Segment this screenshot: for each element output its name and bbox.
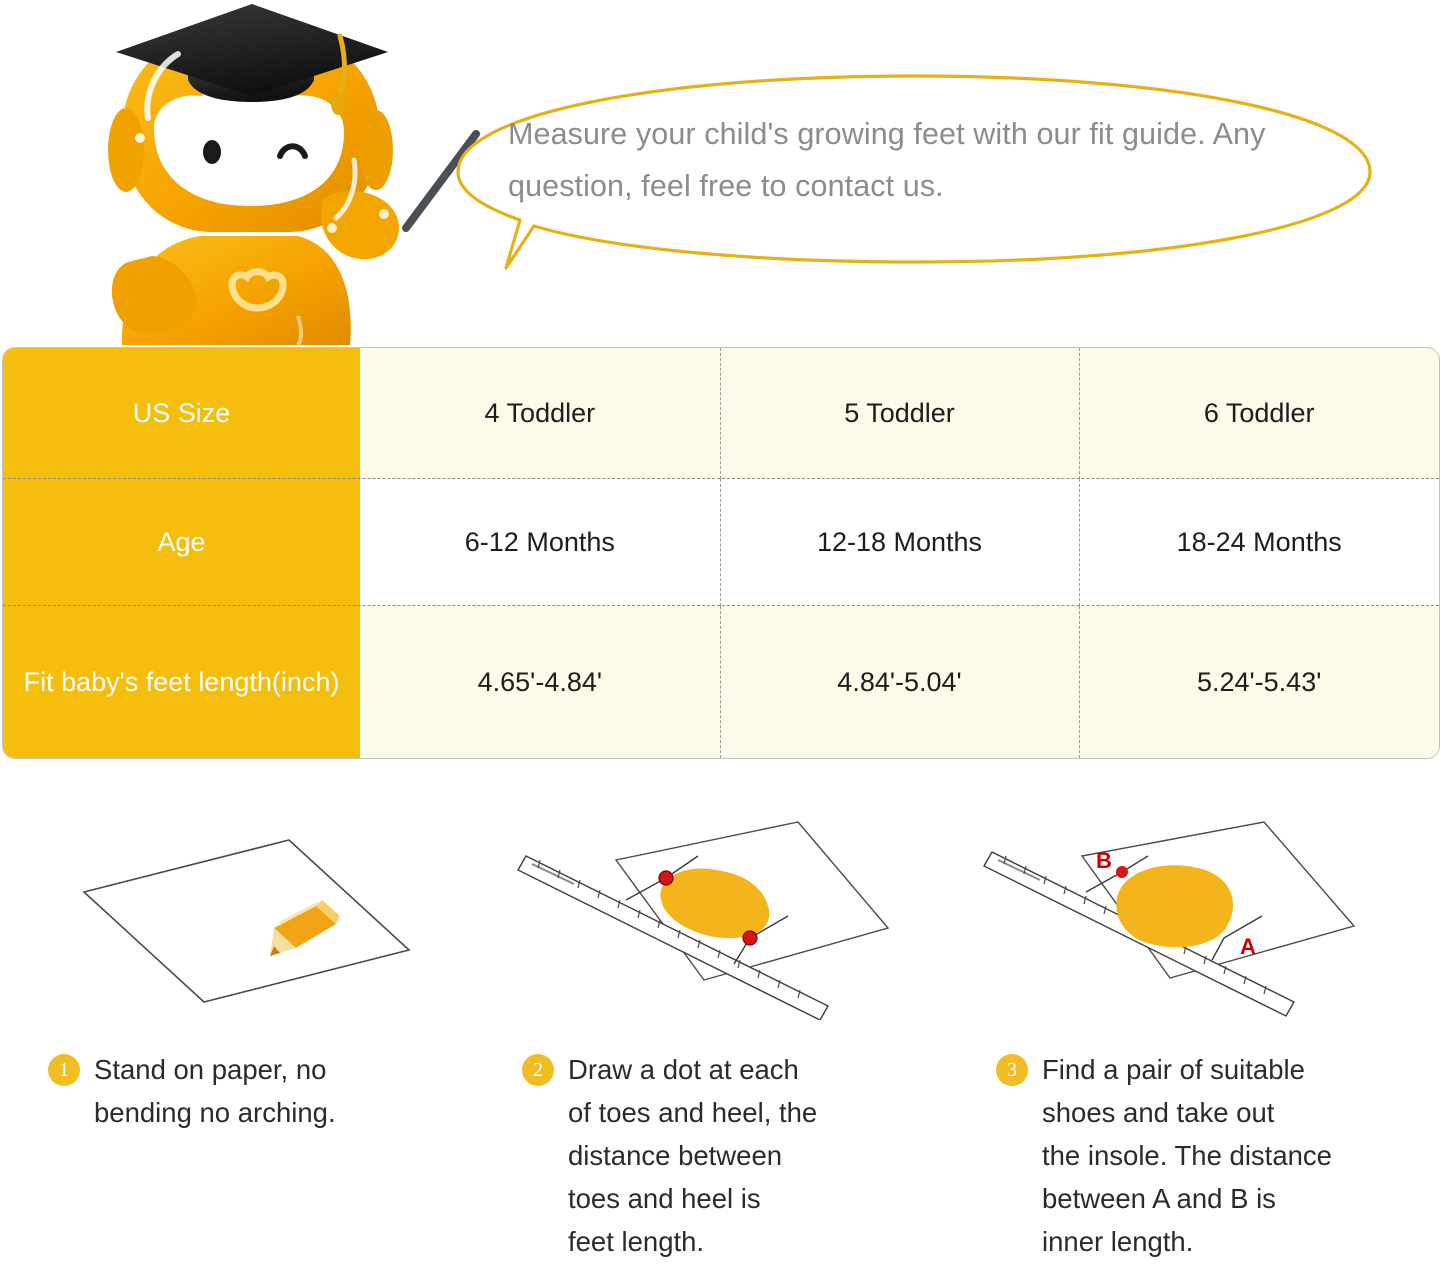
step-caption: 2 Draw a dot at each of toes and heel, t… xyxy=(522,1048,817,1263)
table-row: Age 6-12 Months 12-18 Months 18-24 Month… xyxy=(3,479,1439,606)
table-cell: 5.24'-5.43' xyxy=(1079,606,1439,758)
table-cell: 6 Toddler xyxy=(1079,348,1439,479)
speech-bubble-text: Measure your child's growing feet with o… xyxy=(508,108,1318,212)
step-2: 2 Draw a dot at each of toes and heel, t… xyxy=(498,820,968,1267)
point-a-label: A xyxy=(1240,934,1256,959)
step-text: Draw a dot at each of toes and heel, the… xyxy=(568,1048,817,1263)
row-header-us-size: US Size xyxy=(3,348,360,479)
size-chart-table: US Size 4 Toddler 5 Toddler 6 Toddler Ag… xyxy=(2,347,1440,759)
step-text: Find a pair of suitable shoes and take o… xyxy=(1042,1048,1332,1263)
row-header-feet-length: Fit baby's feet length(inch) xyxy=(3,606,360,758)
speech-bubble: Measure your child's growing feet with o… xyxy=(448,72,1378,277)
table-cell: 4.65'-4.84' xyxy=(360,606,720,758)
step-1: 1 Stand on paper, no bending no arching. xyxy=(24,820,494,1267)
step-number-badge: 3 xyxy=(996,1054,1028,1086)
table-cell: 4.84'-5.04' xyxy=(720,606,1080,758)
heel-dot xyxy=(743,931,757,945)
point-b-label: B xyxy=(1096,848,1112,873)
table-cell: 6-12 Months xyxy=(360,479,720,606)
mascot-eye-open xyxy=(203,140,221,164)
table-row: US Size 4 Toddler 5 Toddler 6 Toddler xyxy=(3,348,1439,479)
step-number-badge: 1 xyxy=(48,1054,80,1086)
ruler-foot-dots-illustration xyxy=(498,820,938,1020)
point-b-dot xyxy=(1116,866,1128,878)
table-cell: 12-18 Months xyxy=(720,479,1080,606)
graduate-mascot xyxy=(92,0,412,345)
step-text: Stand on paper, no bending no arching. xyxy=(94,1048,336,1134)
mascot-illustration xyxy=(92,0,412,345)
step-3: B A 3 Find a pair of suitable shoes and … xyxy=(972,820,1442,1267)
paper-and-pencil-illustration xyxy=(24,820,464,1020)
table-cell: 18-24 Months xyxy=(1079,479,1439,606)
step-caption: 3 Find a pair of suitable shoes and take… xyxy=(996,1048,1332,1263)
table-cell: 5 Toddler xyxy=(720,348,1080,479)
insole-shape xyxy=(1116,865,1233,947)
step-number-badge: 2 xyxy=(522,1054,554,1086)
toe-dot xyxy=(659,871,673,885)
table-cell: 4 Toddler xyxy=(360,348,720,479)
step-caption: 1 Stand on paper, no bending no arching. xyxy=(48,1048,336,1134)
row-header-age: Age xyxy=(3,479,360,606)
ruler-insole-ab-illustration: B A xyxy=(972,820,1412,1020)
size-guide-page: Measure your child's growing feet with o… xyxy=(0,0,1445,1267)
table-row: Fit baby's feet length(inch) 4.65'-4.84'… xyxy=(3,606,1439,758)
measurement-steps: 1 Stand on paper, no bending no arching. xyxy=(0,820,1445,1267)
